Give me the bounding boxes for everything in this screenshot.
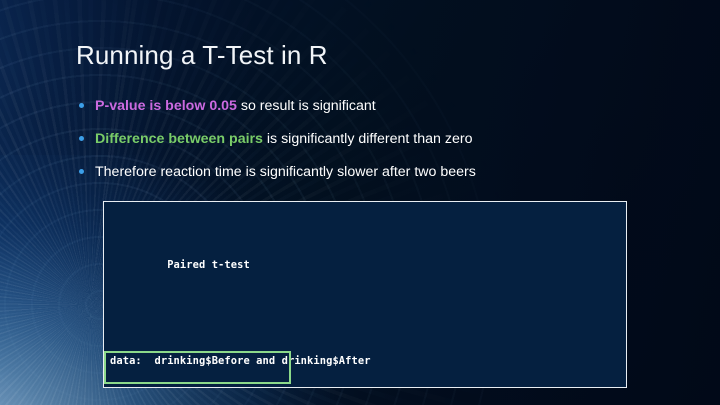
list-item: Difference between pairs is significantl… bbox=[78, 130, 638, 163]
list-item: Therefore reaction time is significantly… bbox=[78, 163, 638, 196]
bullet-highlight-pvalue: P-value is below 0.05 bbox=[95, 98, 237, 114]
console-line-header: Paired t-test bbox=[110, 257, 529, 273]
bullet-text-conclusion: Therefore reaction time is significantly… bbox=[95, 164, 476, 180]
console-line-blank bbox=[110, 305, 529, 321]
r-console-output-panel: Paired t-test data: drinking$Before and … bbox=[103, 201, 627, 388]
bullet-dot-icon bbox=[79, 169, 84, 174]
bullet-highlight-difference: Difference between pairs bbox=[95, 131, 263, 147]
bullet-text-pvalue: so result is significant bbox=[237, 98, 376, 114]
slide-canvas: Running a T-Test in R P-value is below 0… bbox=[0, 0, 720, 405]
list-item: P-value is below 0.05 so result is signi… bbox=[78, 97, 638, 130]
bullet-dot-icon bbox=[79, 136, 84, 141]
page-title: Running a T-Test in R bbox=[76, 40, 328, 71]
bullet-list: P-value is below 0.05 so result is signi… bbox=[78, 97, 638, 196]
bullet-dot-icon bbox=[79, 103, 84, 108]
console-text-block: Paired t-test data: drinking$Before and … bbox=[110, 209, 529, 405]
console-line-data: data: drinking$Before and drinking$After bbox=[110, 353, 529, 369]
bullet-text-difference: is significantly different than zero bbox=[263, 131, 473, 147]
